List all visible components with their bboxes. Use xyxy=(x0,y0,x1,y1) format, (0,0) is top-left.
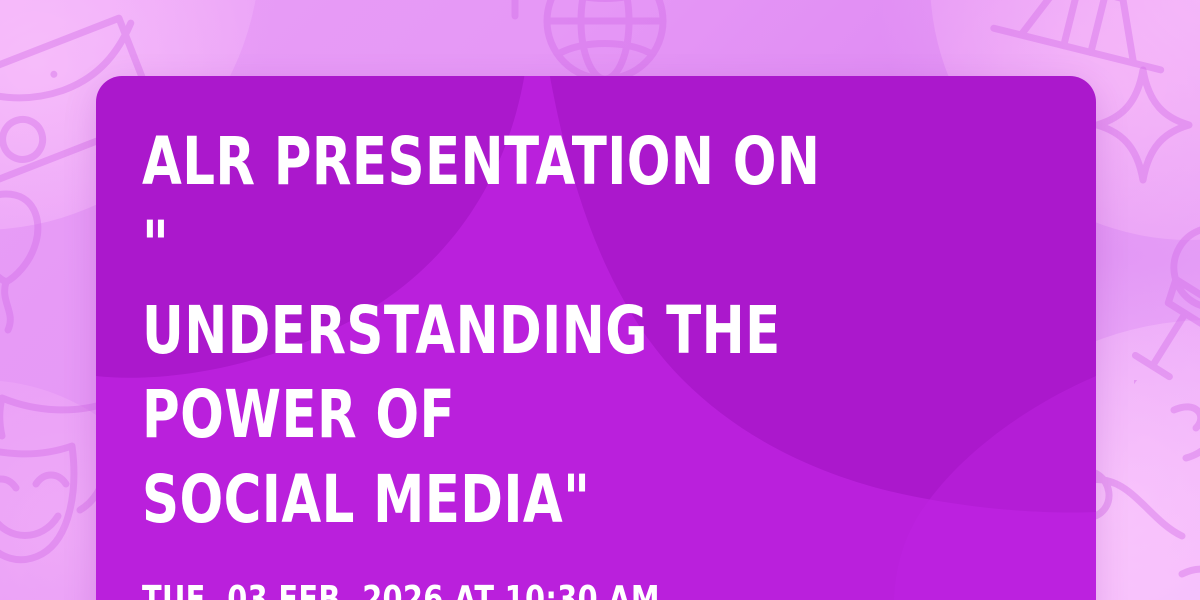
event-card-content: ALR PRESENTATION ON " UNDERSTANDING THE … xyxy=(96,76,1096,600)
event-card: ALR PRESENTATION ON " UNDERSTANDING THE … xyxy=(96,76,1096,600)
event-date: TUE, 03 FEB, 2026 AT 10:30 AM xyxy=(142,578,868,600)
event-title: ALR PRESENTATION ON " UNDERSTANDING THE … xyxy=(142,120,850,542)
event-banner: ALR PRESENTATION ON " UNDERSTANDING THE … xyxy=(0,0,1200,600)
